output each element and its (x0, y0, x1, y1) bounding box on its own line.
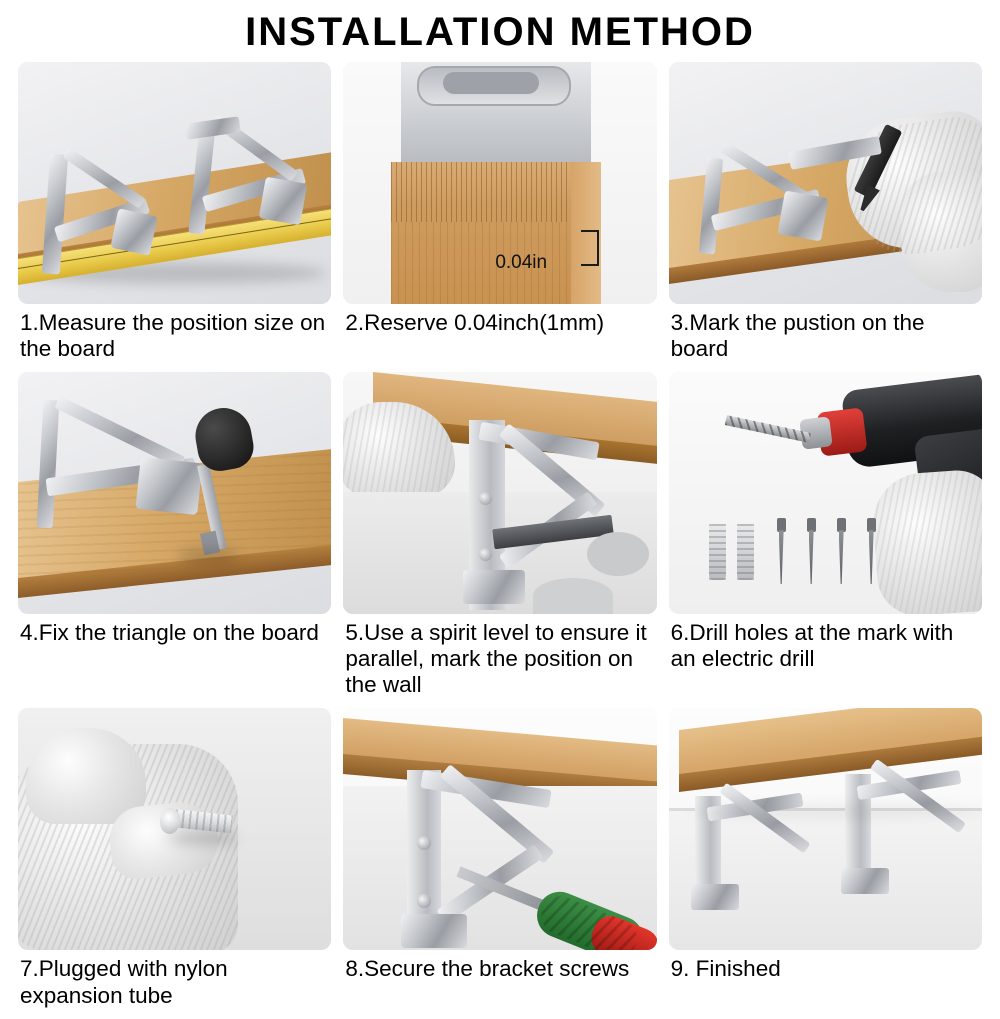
step-5: 5.Use a spirit level to ensure it parall… (343, 372, 656, 708)
mark-position-photo (669, 62, 982, 304)
step-1-caption: 1.Measure the position size on the board (18, 304, 331, 372)
step-5-text: Use a spirit level to ensure it parallel… (345, 620, 646, 697)
step-4-caption: 4.Fix the triangle on the board (18, 614, 331, 656)
step-1: 1.Measure the position size on the board (18, 62, 331, 372)
step-4-text: Fix the triangle on the board (39, 620, 319, 645)
step-4: 4.Fix the triangle on the board (18, 372, 331, 708)
step-6-text: Drill holes at the mark with an electric… (671, 620, 954, 671)
step-8-text: Secure the bracket screws (364, 956, 629, 981)
finished-photo (669, 708, 982, 950)
fix-triangle-photo (18, 372, 331, 614)
spirit-level-photo (343, 372, 656, 614)
step-7-number: 7. (20, 956, 39, 981)
step-8-caption: 8.Secure the bracket screws (343, 950, 656, 992)
step-2-caption: 2.Reserve 0.04inch(1mm) (343, 304, 656, 346)
step-9: 9. Finished (669, 708, 982, 1018)
steps-grid: 1.Measure the position size on the board (18, 62, 982, 1019)
step-6-caption: 6.Drill holes at the mark with an electr… (669, 614, 982, 682)
step-4-number: 4. (20, 620, 39, 645)
step-2-number: 2. (345, 310, 364, 335)
step-9-text: Finished (689, 956, 780, 981)
step-3-number: 3. (671, 310, 690, 335)
measure-position-photo (18, 62, 331, 304)
drill-holes-photo (669, 372, 982, 614)
step-5-number: 5. (345, 620, 364, 645)
step-3: 3.Mark the pustion on the board (669, 62, 982, 372)
step-8: 8.Secure the bracket screws (343, 708, 656, 1018)
step-6: 6.Drill holes at the mark with an electr… (669, 372, 982, 708)
reserve-gap-dimension-label: 0.04in (495, 252, 547, 274)
step-2: 0.04in 2.Reserve 0.04inch(1mm) (343, 62, 656, 372)
installation-guide-page: INSTALLATION METHOD (0, 0, 1000, 1000)
step-9-caption: 9. Finished (669, 950, 982, 992)
step-9-number: 9. (671, 956, 690, 981)
step-7-caption: 7.Plugged with nylon expansion tube (18, 950, 331, 1018)
step-1-number: 1. (20, 310, 39, 335)
nylon-tube-photo (18, 708, 331, 950)
step-7: 7.Plugged with nylon expansion tube (18, 708, 331, 1018)
page-title: INSTALLATION METHOD (18, 0, 982, 62)
step-6-number: 6. (671, 620, 690, 645)
step-3-caption: 3.Mark the pustion on the board (669, 304, 982, 372)
step-1-text: Measure the position size on the board (20, 310, 325, 361)
step-8-number: 8. (345, 956, 364, 981)
step-3-text: Mark the pustion on the board (671, 310, 925, 361)
step-5-caption: 5.Use a spirit level to ensure it parall… (343, 614, 656, 708)
reserve-gap-photo: 0.04in (343, 62, 656, 304)
secure-screws-photo (343, 708, 656, 950)
step-2-text: Reserve 0.04inch(1mm) (364, 310, 604, 335)
